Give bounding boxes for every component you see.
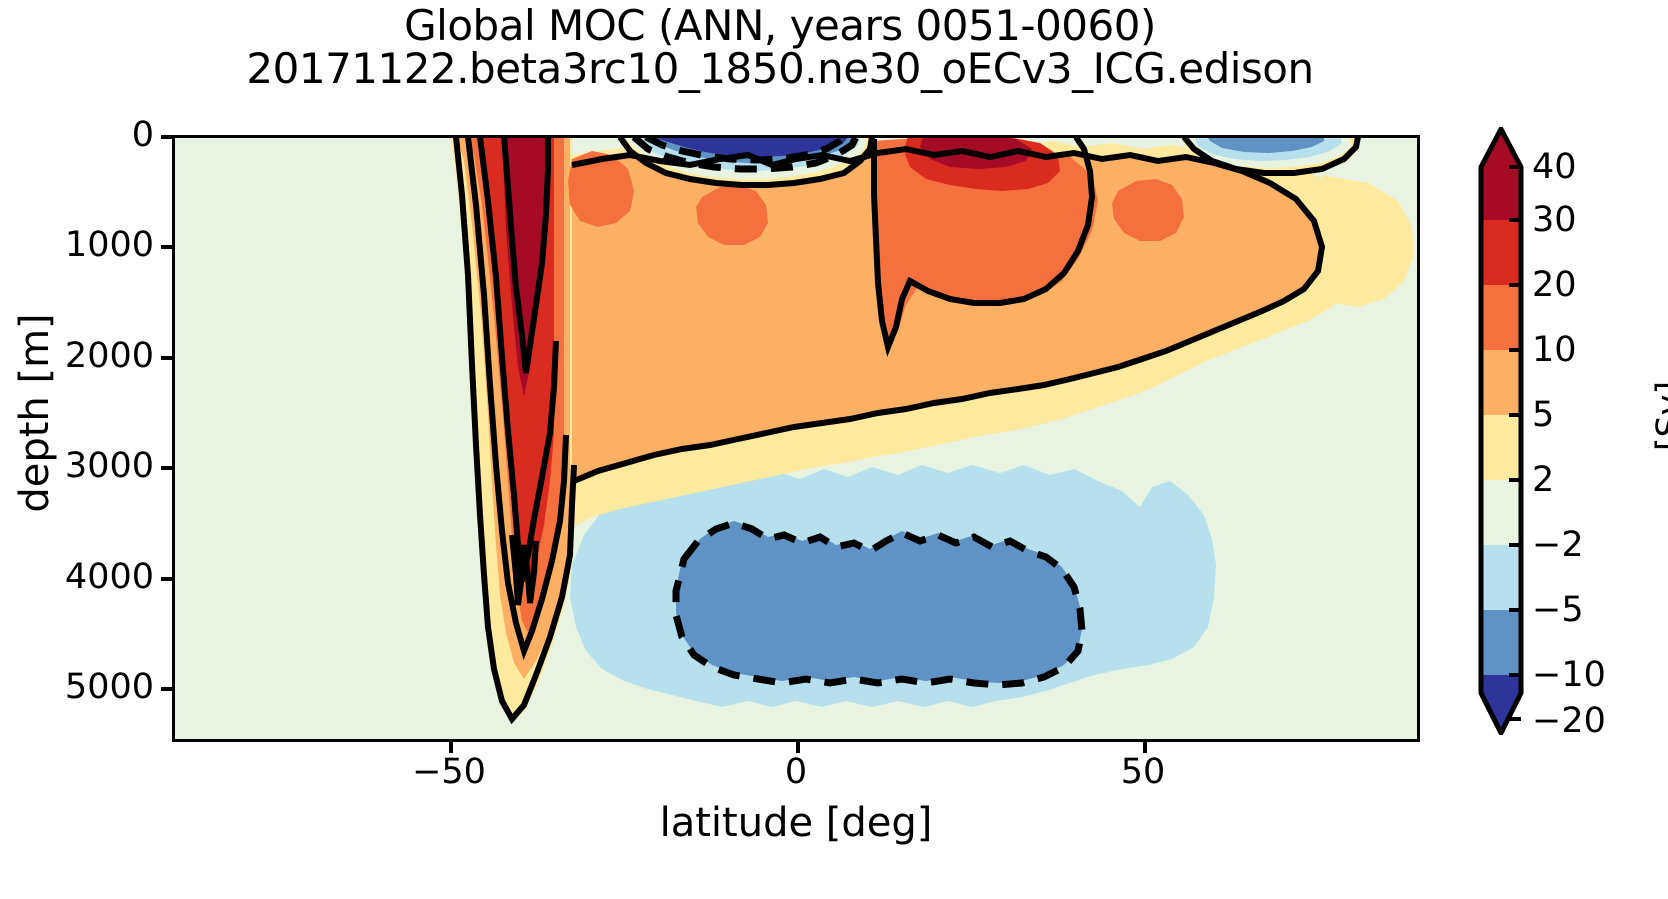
colorbar-svg	[1478, 127, 1524, 735]
cbar-label-40: 40	[1532, 147, 1577, 187]
y-tick-mark-5000	[161, 687, 172, 691]
x-tick-label-minus50: −50	[412, 752, 486, 792]
y-tick-label-3000: 3000	[65, 446, 154, 486]
x-tick-mark-0	[796, 742, 800, 753]
y-tick-label-0: 0	[132, 115, 154, 155]
cbar-label-minus10: −10	[1532, 655, 1606, 695]
cbar-band-2-5	[1478, 415, 1524, 480]
cbar-label-minus5: −5	[1532, 590, 1584, 630]
y-axis-title: depth [m]	[12, 213, 58, 613]
y-tick-mark-2000	[161, 356, 172, 360]
cbar-band-20-30	[1478, 220, 1524, 285]
colorbar-tick-labels: 40 30 20 10 5 2 −2 −5 −10 −20	[1532, 127, 1652, 735]
page-title: Global MOC (ANN, years 0051-0060)	[0, 4, 1560, 47]
cbar-band-m5-m2	[1478, 545, 1524, 610]
moc-figure: Global MOC (ANN, years 0051-0060) 201711…	[0, 0, 1668, 899]
colorbar-unit-label: [Sv]	[1650, 306, 1668, 526]
y-tick-mark-3000	[161, 466, 172, 470]
x-tick-mark-50	[1143, 742, 1147, 753]
cbar-band-5-10	[1478, 350, 1524, 415]
cbar-label-30: 30	[1532, 200, 1577, 240]
x-tick-mark-minus50	[449, 742, 453, 753]
cbar-label-minus2: −2	[1532, 525, 1584, 565]
y-tick-mark-0	[161, 135, 172, 139]
colorbar	[1478, 127, 1524, 735]
x-axis-title: latitude [deg]	[172, 800, 1420, 846]
y-tick-label-5000: 5000	[65, 667, 154, 707]
y-tick-label-1000: 1000	[65, 225, 154, 265]
x-axis-tick-labels: −50 0 50	[172, 752, 1420, 802]
plot-area	[172, 135, 1420, 742]
y-tick-mark-1000	[161, 245, 172, 249]
y-tick-mark-4000	[161, 577, 172, 581]
figure-subtitle: 20171122.beta3rc10_1850.ne30_oECv3_ICG.e…	[0, 47, 1560, 90]
cbar-band-m2-2	[1478, 480, 1524, 545]
x-tick-label-50: 50	[1121, 752, 1166, 792]
cbar-band-10-20	[1478, 285, 1524, 350]
cbar-band-m10-m5	[1478, 610, 1524, 675]
cbar-label-5: 5	[1532, 395, 1554, 435]
y-tick-label-2000: 2000	[65, 336, 154, 376]
figure-title-block: Global MOC (ANN, years 0051-0060) 201711…	[0, 4, 1560, 91]
cbar-label-minus20: −20	[1532, 701, 1606, 741]
cbar-band-30-40	[1478, 127, 1524, 220]
cbar-label-10: 10	[1532, 330, 1577, 370]
moc-contour-field	[172, 135, 1420, 742]
x-tick-label-0: 0	[785, 752, 807, 792]
cbar-label-20: 20	[1532, 265, 1577, 305]
cbar-label-2: 2	[1532, 460, 1554, 500]
y-tick-label-4000: 4000	[65, 557, 154, 597]
